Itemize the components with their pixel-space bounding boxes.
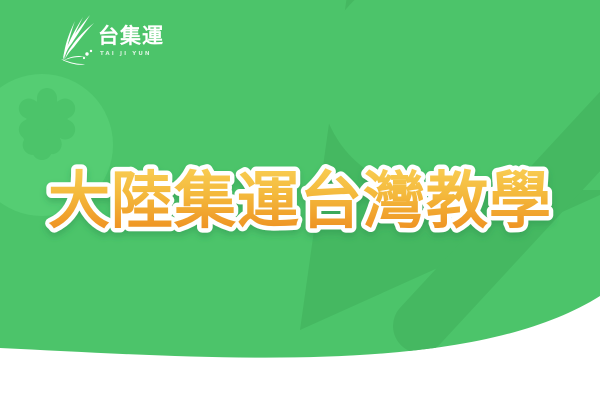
wing-feather-logo-mark	[50, 14, 96, 66]
logo-brand-cn: 台集運	[98, 25, 164, 47]
logo-brand-romanization: TAI JI YUN	[100, 51, 164, 57]
logo-text-block: 台集運 TAI JI YUN	[98, 25, 164, 56]
page-title: 大陸集運台灣教學 大陸集運台灣教學	[0, 160, 600, 250]
brand-logo[interactable]: 台集運 TAI JI YUN	[50, 12, 180, 68]
page-title-fill: 大陸集運台灣教學	[48, 164, 552, 237]
promo-banner: 台集運 TAI JI YUN 大陸集運台灣教學 大陸集運台灣教學	[0, 0, 600, 400]
